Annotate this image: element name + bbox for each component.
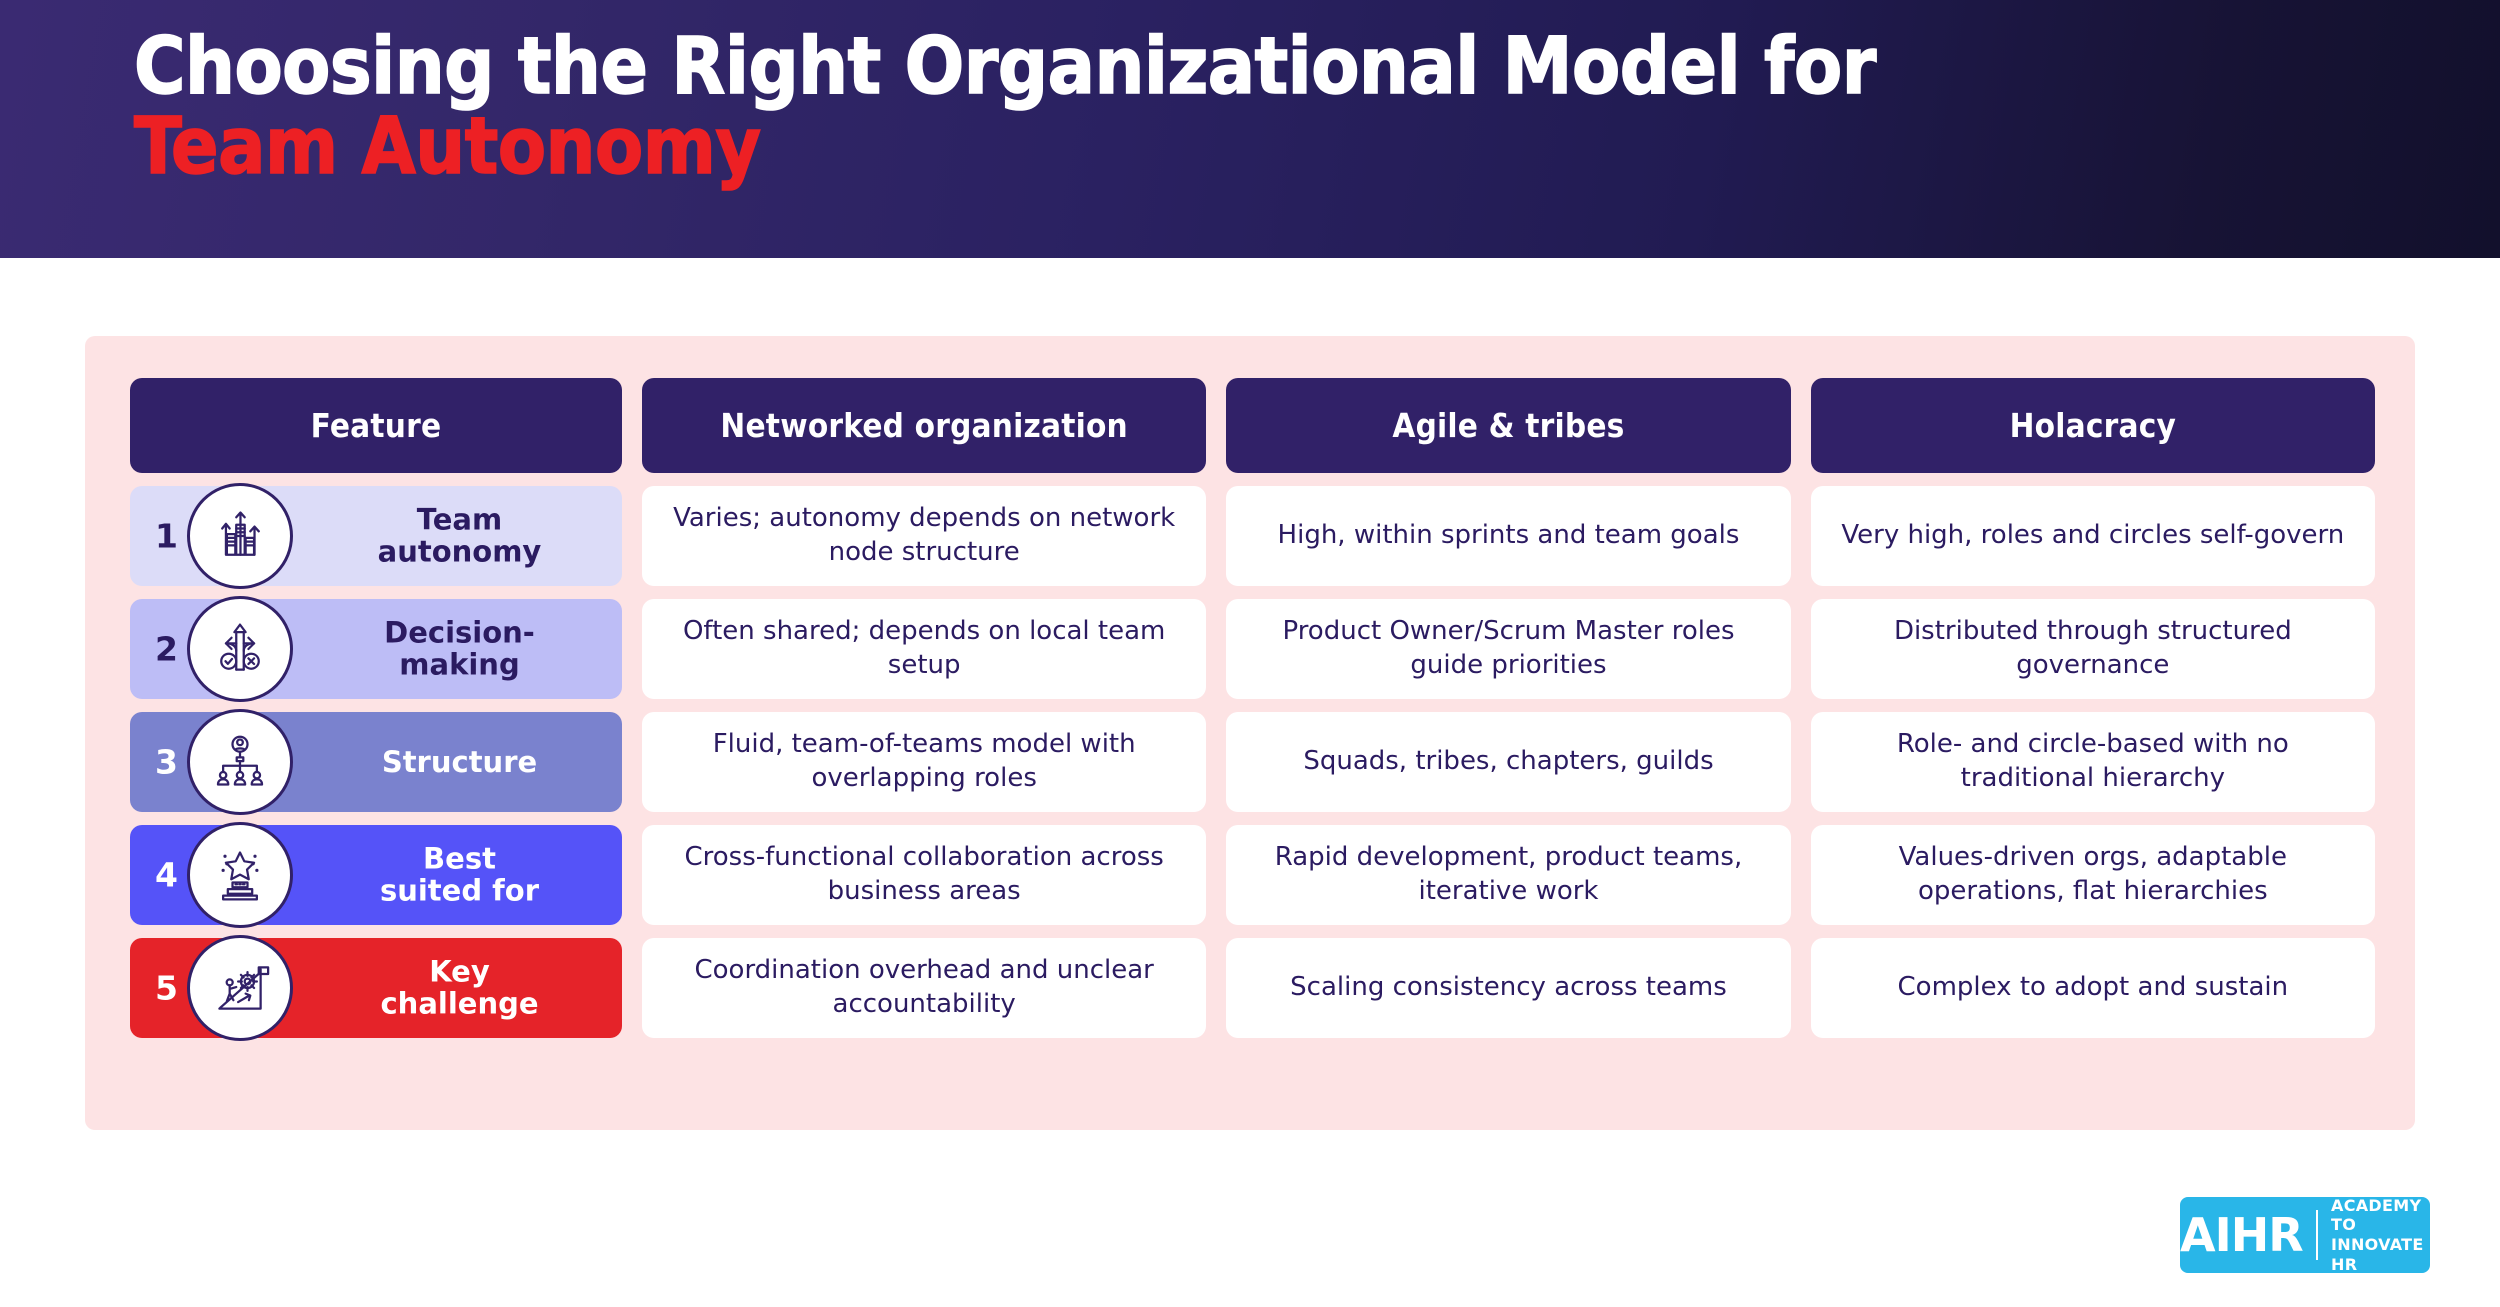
feature-label-line-1: Key [429,955,490,989]
feature-label: Best suited for [305,843,614,908]
page-title-line-1: Choosing the Right Organizational Model … [134,28,2434,108]
row-number: 4 [155,856,178,895]
row-number: 5 [155,969,178,1008]
page-title-line-2: Team Autonomy [134,108,2434,188]
cell-agile-best-suited-for: Rapid development, product teams, iterat… [1226,825,1790,925]
feature-label: Decision- making [305,617,614,682]
feature-label: Team autonomy [305,504,614,569]
cell-agile-team-autonomy: High, within sprints and team goals [1226,486,1790,586]
cell-agile-key-challenge: Scaling consistency across teams [1226,938,1790,1038]
table-row: 2 Decision- making [130,599,2375,699]
table-header-row: Feature Networked organization Agile & t… [130,378,2375,473]
cell-networked-best-suited-for: Cross-functional collaboration across bu… [642,825,1206,925]
star-podium-award-icon [187,822,293,928]
feature-cell-key-challenge: 5 Key challenge [130,938,622,1038]
row-number: 2 [155,630,178,669]
column-header-feature: Feature [130,378,622,473]
cell-holacracy-decision-making: Distributed through structured governanc… [1811,599,2375,699]
decision-fork-arrows-icon [187,596,293,702]
feature-label: Key challenge [305,956,614,1021]
comparison-panel: Feature Networked organization Agile & t… [85,336,2415,1130]
comparison-table: Feature Networked organization Agile & t… [130,378,2375,1038]
aihr-logo-tagline-line-2: INNOVATE HR [2331,1235,2430,1274]
feature-label-line-1: Decision- [384,616,535,650]
feature-cell-structure: 3 Structure [130,712,622,812]
aihr-logo: AIHR ACADEMY TO INNOVATE HR [2180,1197,2430,1273]
row-number: 3 [155,743,178,782]
row-number: 1 [155,517,178,556]
org-chart-hierarchy-icon [187,709,293,815]
cell-networked-team-autonomy: Varies; autonomy depends on network node… [642,486,1206,586]
feature-label-line-1: Structure [382,745,537,779]
aihr-logo-tagline-line-1: ACADEMY TO [2331,1196,2430,1235]
cell-agile-structure: Squads, tribes, chapters, guilds [1226,712,1790,812]
feature-cell-decision-making: 2 Decision- making [130,599,622,699]
aihr-logo-wordmark: AIHR [2180,1208,2316,1262]
feature-label-line-2: challenge [380,987,538,1021]
table-row: 1 Team autonomy Varies; autonom [130,486,2375,586]
cell-agile-decision-making: Product Owner/Scrum Master roles guide p… [1226,599,1790,699]
feature-label-line-1: Team [417,503,502,537]
table-row: 3 Structure Fluid, team-of-t [130,712,2375,812]
feature-cell-best-suited-for: 4 Best suited for [130,825,622,925]
cell-networked-structure: Fluid, team-of-teams model with overlapp… [642,712,1206,812]
feature-label-line-2: making [399,648,519,682]
feature-cell-team-autonomy: 1 Team autonomy [130,486,622,586]
feature-label-line-2: autonomy [378,535,542,569]
column-header-agile-and-tribes: Agile & tribes [1226,378,1790,473]
table-row: 4 Best suited for Cross-functio [130,825,2375,925]
cell-networked-key-challenge: Coordination overhead and unclear accoun… [642,938,1206,1038]
person-pushing-gear-uphill-icon [187,935,293,1041]
table-row: 5 Key challenge [130,938,2375,1038]
page-title: Choosing the Right Organizational Model … [134,28,2434,187]
cell-holacracy-best-suited-for: Values-driven orgs, adaptable operations… [1811,825,2375,925]
column-header-holacracy: Holacracy [1811,378,2375,473]
cell-networked-decision-making: Often shared; depends on local team setu… [642,599,1206,699]
cell-holacracy-structure: Role- and circle-based with no tradition… [1811,712,2375,812]
feature-label-line-2: suited for [380,874,539,908]
feature-label: Structure [305,746,614,778]
feature-label-line-1: Best [423,842,496,876]
aihr-logo-tagline: ACADEMY TO INNOVATE HR [2318,1196,2430,1274]
cell-holacracy-team-autonomy: Very high, roles and circles self-govern [1811,486,2375,586]
header-banner: Choosing the Right Organizational Model … [0,0,2500,258]
column-header-networked-organization: Networked organization [642,378,1206,473]
raised-fists-arrows-icon [187,483,293,589]
cell-holacracy-key-challenge: Complex to adopt and sustain [1811,938,2375,1038]
